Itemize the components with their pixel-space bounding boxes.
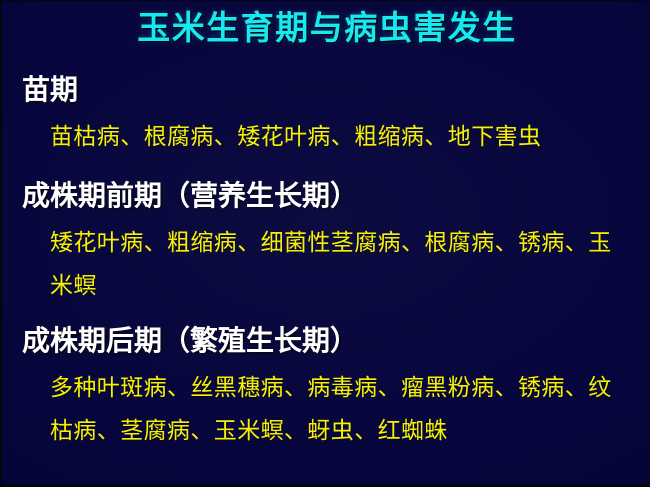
slide-section-seedling-stage: 苗期 苗枯病、根腐病、矮花叶病、粗缩病、地下害虫 [2, 73, 650, 158]
presentation-slide: 玉米生育期与病虫害发生 苗期 苗枯病、根腐病、矮花叶病、粗缩病、地下害虫 成株期… [0, 0, 650, 487]
slide-section-late-adult-stage: 成株期后期（繁殖生长期） 多种叶斑病、丝黑穗病、病毒病、瘤黑粉病、锈病、纹枯病、… [2, 324, 650, 452]
slide-title: 玉米生育期与病虫害发生 [2, 8, 650, 48]
section-body-text: 多种叶斑病、丝黑穗病、病毒病、瘤黑粉病、锈病、纹枯病、茎腐病、玉米螟、蚜虫、红蜘… [2, 358, 650, 452]
section-body-text: 矮花叶病、粗缩病、细菌性茎腐病、根腐病、锈病、玉米螟 [2, 213, 650, 307]
section-heading: 苗期 [2, 73, 650, 107]
section-heading: 成株期后期（繁殖生长期） [2, 324, 650, 358]
section-heading: 成株期前期（营养生长期） [2, 179, 650, 213]
slide-section-early-adult-stage: 成株期前期（营养生长期） 矮花叶病、粗缩病、细菌性茎腐病、根腐病、锈病、玉米螟 [2, 179, 650, 307]
section-body-text: 苗枯病、根腐病、矮花叶病、粗缩病、地下害虫 [2, 107, 650, 158]
